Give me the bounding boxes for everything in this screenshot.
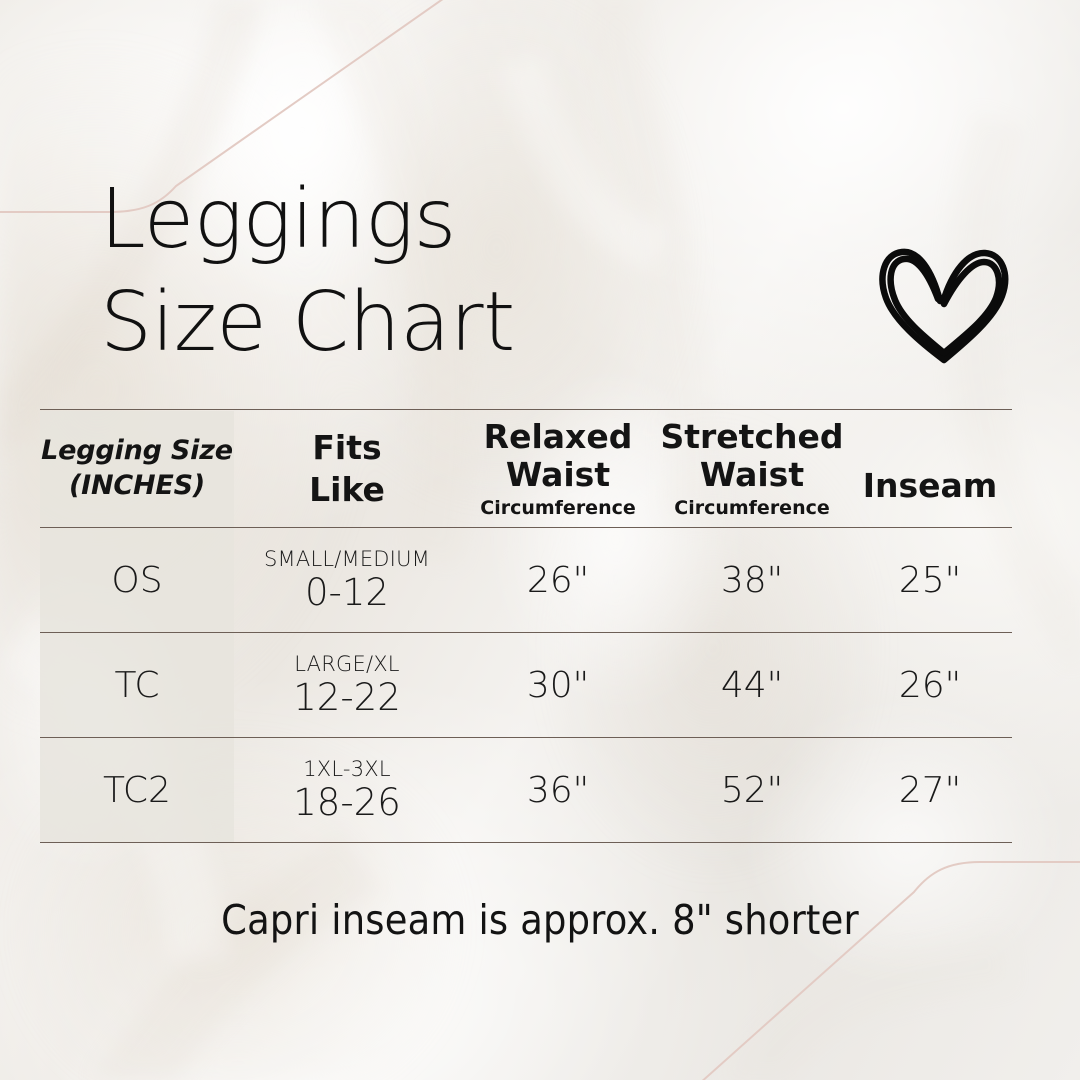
footer-note: Capri inseam is approx. 8" shorter <box>0 896 1080 944</box>
header-stretched-waist-sub: Circumference <box>656 497 848 519</box>
cell-inseam: 27" <box>848 738 1012 843</box>
cell-fits-like: SMALL/MEDIUM 0-12 <box>234 528 460 633</box>
page-title: Leggings Size Chart <box>100 168 720 375</box>
cell-fits-like-label: SMALL/MEDIUM <box>234 548 460 570</box>
cell-fits-like-label: 1XL-3XL <box>234 758 460 780</box>
header-relaxed-waist-title: Relaxed Waist <box>460 418 656 495</box>
header-stretched-waist-title: Stretched Waist <box>656 418 848 495</box>
header-legging-size: Legging Size (INCHES) <box>40 410 234 528</box>
table-row: TC2 1XL-3XL 18-26 36" 52" 27" <box>40 738 1012 843</box>
cell-relaxed-waist: 36" <box>460 738 656 843</box>
heart-doodle-icon <box>868 226 1018 366</box>
cell-fits-like-range: 18-26 <box>234 784 460 823</box>
table-row: TC LARGE/XL 12-22 30" 44" 26" <box>40 633 1012 738</box>
cell-relaxed-waist: 30" <box>460 633 656 738</box>
cell-fits-like-label: LARGE/XL <box>234 653 460 675</box>
header-relaxed-waist: Relaxed Waist Circumference <box>460 410 656 528</box>
cell-stretched-waist: 38" <box>656 528 848 633</box>
table-row: OS SMALL/MEDIUM 0-12 26" 38" 25" <box>40 528 1012 633</box>
cell-inseam: 25" <box>848 528 1012 633</box>
size-table-wrapper: Legging Size (INCHES) Fits Like Relaxed … <box>40 409 1012 843</box>
cell-fits-like-range: 12-22 <box>234 679 460 718</box>
cell-fits-like-range: 0-12 <box>234 574 460 613</box>
cell-inseam: 26" <box>848 633 1012 738</box>
cell-size: TC <box>40 633 234 738</box>
table-header-row: Legging Size (INCHES) Fits Like Relaxed … <box>40 410 1012 528</box>
header-inseam: Inseam <box>848 410 1012 528</box>
cell-relaxed-waist: 26" <box>460 528 656 633</box>
cell-size: TC2 <box>40 738 234 843</box>
header-relaxed-waist-sub: Circumference <box>460 497 656 519</box>
header-fits-like: Fits Like <box>234 410 460 528</box>
cell-stretched-waist: 52" <box>656 738 848 843</box>
header-stretched-waist: Stretched Waist Circumference <box>656 410 848 528</box>
cell-fits-like: 1XL-3XL 18-26 <box>234 738 460 843</box>
leggings-size-chart-poster: Leggings Size Chart Legging Size (INCHES… <box>0 0 1080 1080</box>
cell-size: OS <box>40 528 234 633</box>
cell-stretched-waist: 44" <box>656 633 848 738</box>
size-table: Legging Size (INCHES) Fits Like Relaxed … <box>40 409 1012 843</box>
cell-fits-like: LARGE/XL 12-22 <box>234 633 460 738</box>
